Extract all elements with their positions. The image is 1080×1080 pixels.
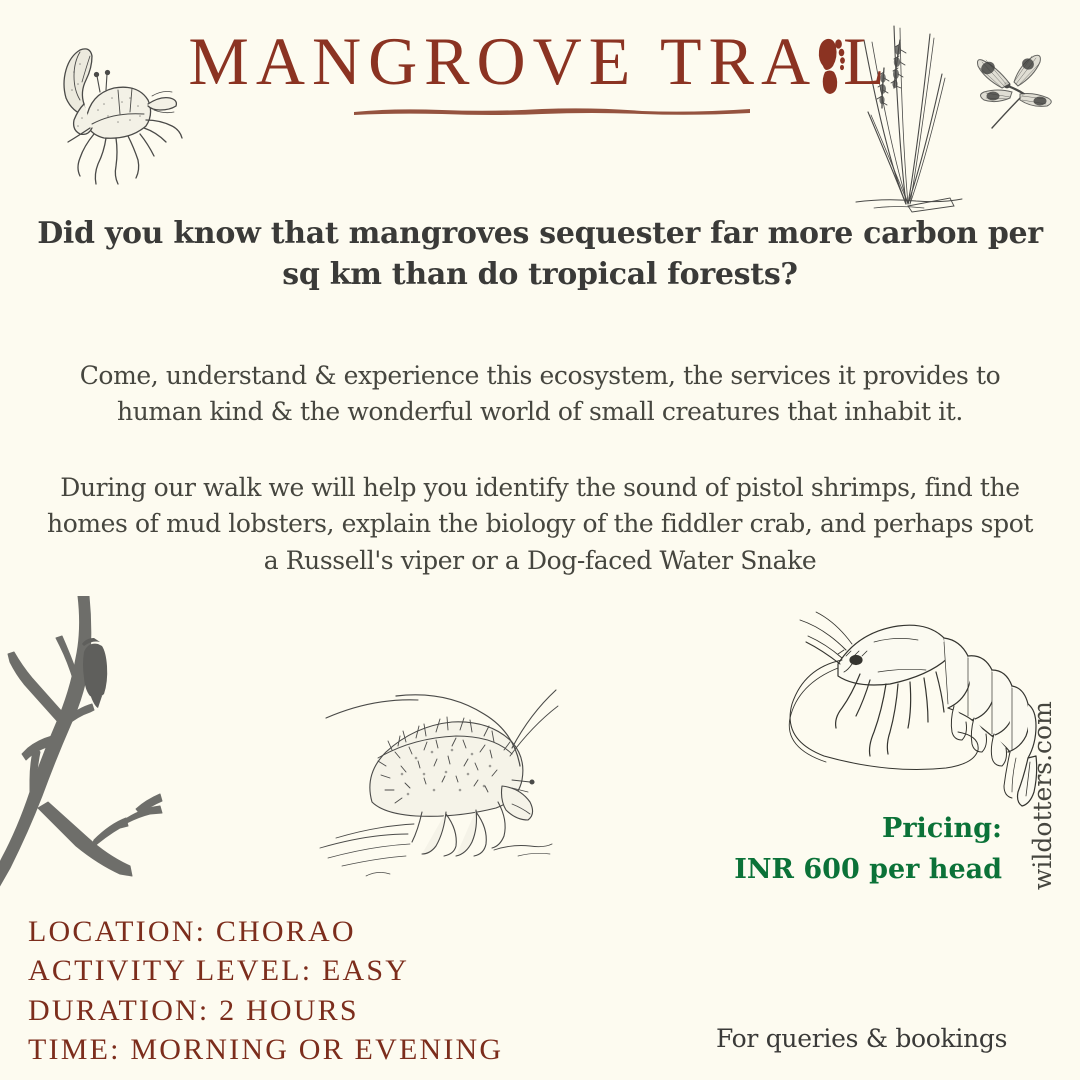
title-text-before-icon: MANGROVE TRA (188, 23, 817, 99)
hook-text: Did you know that mangroves sequester fa… (24, 214, 1056, 295)
bare-branch-with-bird-illustration (0, 596, 214, 926)
website-url[interactable]: wildotters.com (1028, 670, 1057, 890)
detail-time: TIME: MORNING OR EVENING (28, 1030, 503, 1069)
trail-details-block: LOCATION: CHORAO ACTIVITY LEVEL: EASY DU… (28, 912, 503, 1069)
walk-description-paragraph: During our walk we will help you identif… (40, 470, 1040, 579)
intro-paragraph: Come, understand & experience this ecosy… (60, 358, 1020, 431)
title-text-after-icon: L (843, 23, 892, 99)
contact-block: For queries & bookings (Katrina) 9663320… (716, 954, 1007, 1080)
title-underline-swash (352, 104, 752, 116)
detail-activity-level: ACTIVITY LEVEL: EASY (28, 951, 503, 990)
pricing-amount: INR 600 per head (734, 849, 1002, 890)
poster-canvas: MANGROVE TRAL Did you know that mangrove… (0, 0, 1080, 1080)
poster-title: MANGROVE TRAL (0, 26, 1080, 98)
pricing-heading: Pricing: (734, 808, 1002, 849)
shrimp-illustration (778, 598, 1058, 818)
detail-location: LOCATION: CHORAO (28, 912, 503, 951)
hermit-crab-illustration (306, 662, 606, 878)
pricing-block: Pricing: INR 600 per head (734, 808, 1002, 890)
footprint-icon (815, 36, 845, 98)
contact-heading: For queries & bookings (716, 1022, 1007, 1056)
detail-duration: DURATION: 2 HOURS (28, 991, 503, 1030)
